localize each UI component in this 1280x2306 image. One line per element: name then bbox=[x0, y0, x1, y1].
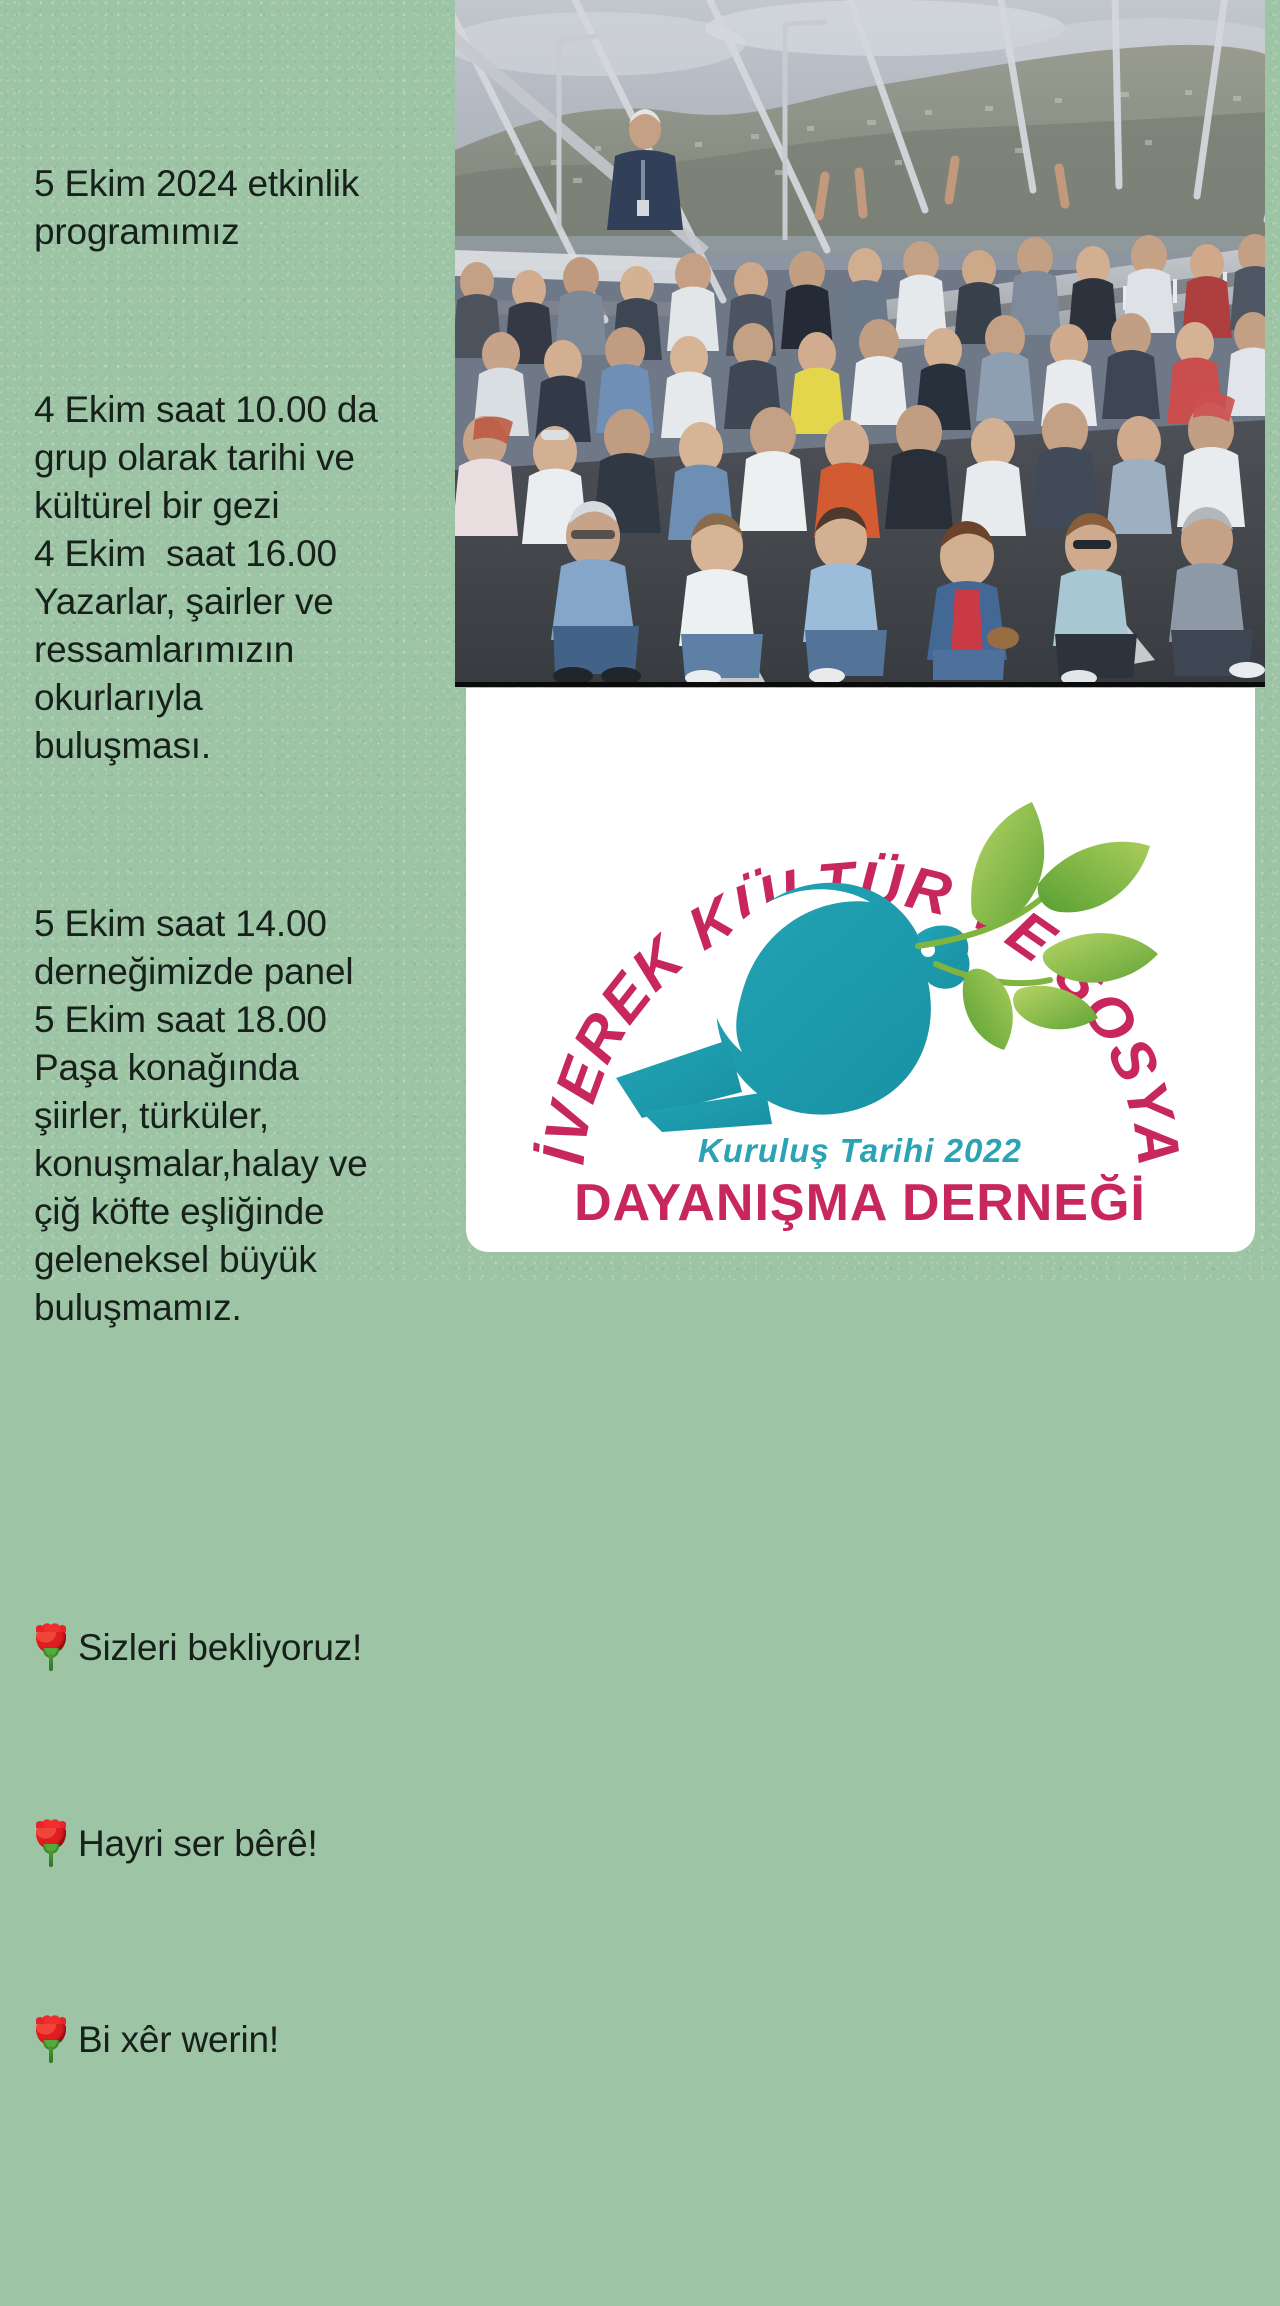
logo-bottom-text: DAYANIŞMA DERNEĞİ bbox=[574, 1174, 1146, 1232]
rose-icon bbox=[34, 1820, 68, 1868]
program-paragraph-3: 5 Ekim saat 14.00 derneğimizde panel 5 E… bbox=[34, 900, 444, 1332]
association-logo: SİVEREK KÜLTÜR VE SOSYAL bbox=[466, 688, 1255, 1252]
rose-icon bbox=[34, 1624, 68, 1672]
poster-canvas: 5 Ekim 2024 etkinlik programımız 4 Ekim … bbox=[0, 0, 1280, 1280]
closing-line-3: Bi xêr werin! bbox=[34, 2014, 444, 2066]
program-paragraph-1: 5 Ekim 2024 etkinlik programımız bbox=[34, 160, 444, 256]
rose-icon bbox=[34, 2016, 68, 2064]
group-photo bbox=[455, 0, 1265, 687]
logo-founded-text: Kuruluş Tarihi 2022 bbox=[698, 1132, 1022, 1169]
program-paragraph-2: 4 Ekim saat 10.00 da grup olarak tarihi … bbox=[34, 386, 444, 770]
association-logo-card: SİVEREK KÜLTÜR VE SOSYAL bbox=[466, 688, 1255, 1252]
program-text-column: 5 Ekim 2024 etkinlik programımız 4 Ekim … bbox=[34, 64, 444, 2306]
closing-line-1: Sizleri bekliyoruz! bbox=[34, 1622, 444, 1674]
closing-line-2: Hayri ser bêrê! bbox=[34, 1818, 444, 1870]
closing-line-1-label: Sizleri bekliyoruz! bbox=[78, 1622, 362, 1674]
closing-line-2-label: Hayri ser bêrê! bbox=[78, 1818, 318, 1870]
closing-line-3-label: Bi xêr werin! bbox=[78, 2014, 279, 2066]
closing-lines: Sizleri bekliyoruz! Hayri ser bêrê! Bi x… bbox=[34, 1478, 444, 2210]
